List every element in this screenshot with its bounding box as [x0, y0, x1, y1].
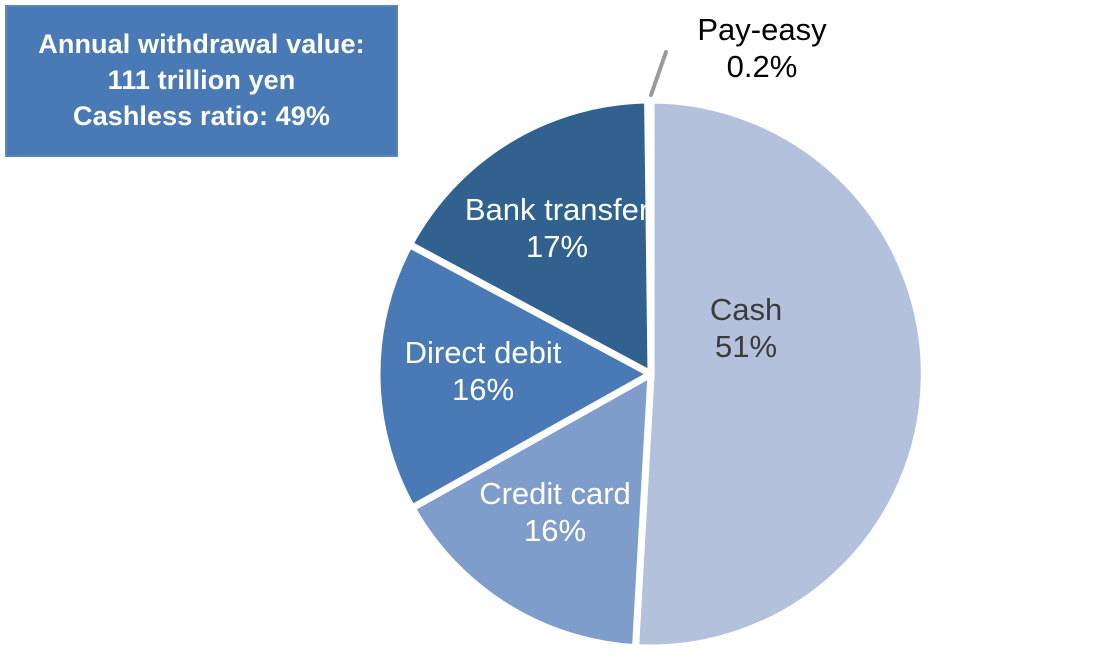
pie-slice-cash	[636, 100, 925, 648]
pie-chart-figure: Annual withdrawal value: 111 trillion ye…	[0, 0, 1120, 668]
slice-label-pay-easy: Pay-easy 0.2%	[662, 12, 862, 85]
slice-label-bank-transfer-percent: 17%	[447, 229, 667, 266]
slice-label-direct-debit-percent: 16%	[383, 372, 583, 409]
slice-label-cash-percent: 51%	[656, 329, 836, 366]
slice-label-direct-debit: Direct debit 16%	[383, 335, 583, 408]
pie-graphic	[0, 0, 1120, 668]
slice-label-credit-card: Credit card 16%	[455, 476, 655, 549]
slice-label-direct-debit-name: Direct debit	[383, 335, 583, 372]
slice-label-pay-easy-name: Pay-easy	[662, 12, 862, 49]
slice-label-credit-card-percent: 16%	[455, 513, 655, 550]
slice-label-cash-name: Cash	[656, 292, 836, 329]
slice-label-bank-transfer-name: Bank transfer	[447, 192, 667, 229]
slice-label-pay-easy-percent: 0.2%	[662, 49, 862, 86]
slice-label-credit-card-name: Credit card	[455, 476, 655, 513]
slice-label-cash: Cash 51%	[656, 292, 836, 365]
slice-label-bank-transfer: Bank transfer 17%	[447, 192, 667, 265]
